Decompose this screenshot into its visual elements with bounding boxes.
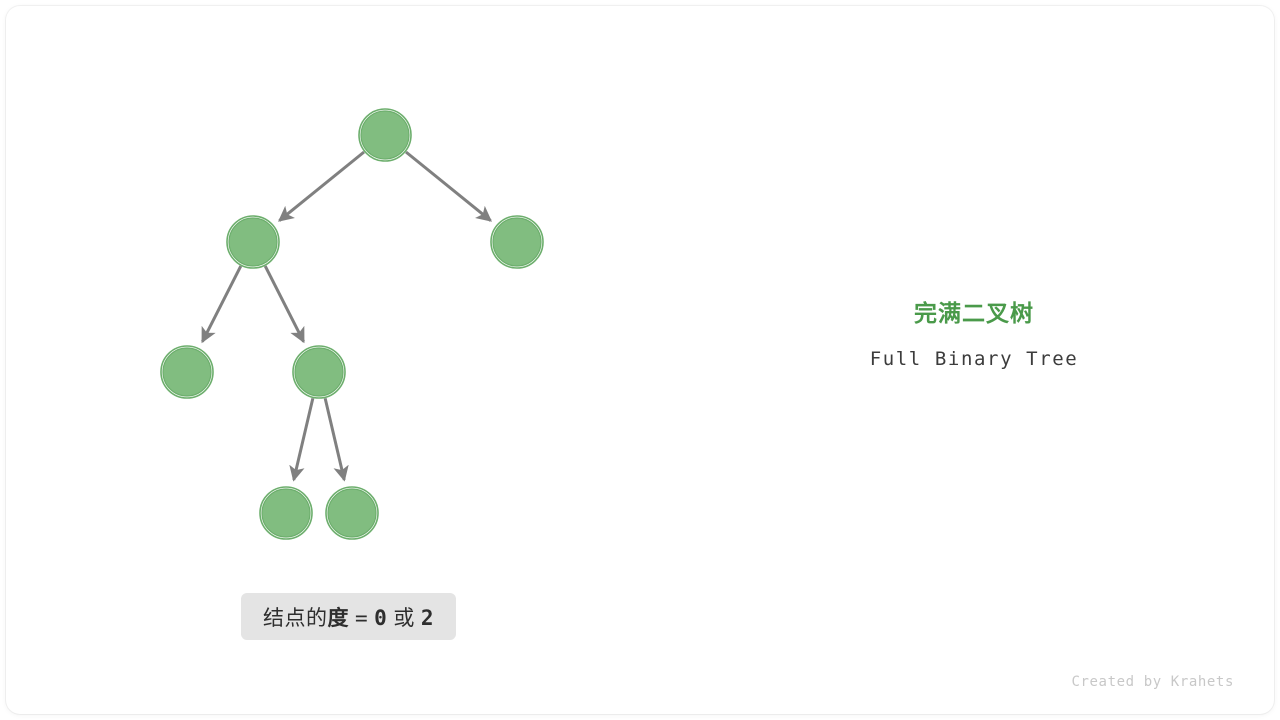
tree-node	[359, 109, 411, 161]
degree-bold-word: 度	[328, 606, 350, 630]
tree-edge	[279, 152, 364, 221]
degree-annotation-text: 结点的度=0或2	[263, 602, 434, 632]
diagram-title: 完满二叉树	[774, 298, 1174, 328]
tree-edge	[406, 152, 491, 221]
tree-edge	[265, 266, 303, 342]
tree-node-circle	[262, 489, 310, 537]
tree-edge	[202, 266, 240, 342]
tree-node-circle	[163, 348, 211, 396]
tree-node	[326, 487, 378, 539]
tree-node-circle	[295, 348, 343, 396]
tree-node	[161, 346, 213, 398]
diagram-subtitle: Full Binary Tree	[774, 346, 1174, 372]
degree-value-b: 2	[421, 606, 434, 630]
degree-prefix: 结点的	[263, 606, 328, 630]
tree-edge	[325, 398, 344, 480]
tree-node-layer	[161, 109, 543, 539]
tree-node-circle	[493, 218, 541, 266]
tree-node-circle	[229, 218, 277, 266]
screenshot-canvas: 完满二叉树 Full Binary Tree 结点的度=0或2 Created …	[0, 0, 1280, 720]
tree-node	[260, 487, 312, 539]
tree-node	[227, 216, 279, 268]
credit-text: Created by Krahets	[1071, 674, 1234, 690]
degree-value-a: 0	[374, 606, 387, 630]
caption-block: 完满二叉树 Full Binary Tree	[774, 298, 1174, 372]
tree-node-circle	[328, 489, 376, 537]
tree-node	[491, 216, 543, 268]
degree-equals: =	[355, 606, 368, 630]
tree-node	[293, 346, 345, 398]
tree-node-circle	[361, 111, 409, 159]
degree-annotation-box: 结点的度=0或2	[241, 593, 456, 640]
diagram-card: 完满二叉树 Full Binary Tree 结点的度=0或2 Created …	[6, 6, 1274, 714]
tree-edge	[294, 398, 313, 480]
degree-conjunction: 或	[393, 606, 415, 630]
tree-edge-layer	[202, 152, 490, 480]
